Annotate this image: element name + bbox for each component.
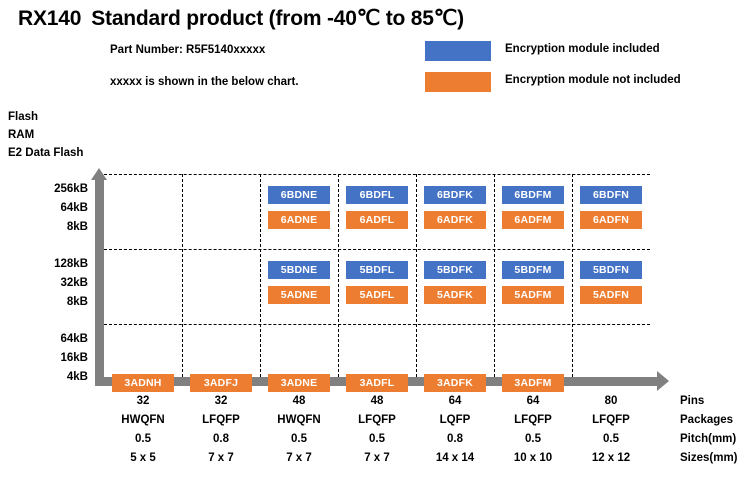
y-tick-e2-8kb-b: 8kB	[0, 296, 88, 308]
grid-vline-1	[182, 174, 183, 377]
y-axis-header-flash: Flash	[8, 111, 38, 123]
x-axis-row-legend: Pins Packages Pitch(mm) Sizes(mm)	[680, 392, 738, 468]
x-axis-col3-package: HWQFN	[260, 411, 338, 430]
y-axis-line	[95, 178, 104, 386]
part-chip-6bdfk[interactable]: 6BDFK	[424, 186, 486, 204]
grid-hline-1	[104, 249, 650, 250]
x-axis-col4-pins: 48	[338, 392, 416, 411]
x-axis-column-3: 48HWQFN0.57 x 7	[260, 392, 338, 468]
part-chip-6adfk[interactable]: 6ADFK	[424, 211, 486, 229]
part-chip-3adfk[interactable]: 3ADFK	[424, 374, 486, 392]
x-axis-col3-pins: 48	[260, 392, 338, 411]
x-axis-col2-pitch: 0.8	[182, 430, 260, 449]
x-axis-col6-pins: 64	[494, 392, 572, 411]
x-axis-col3-pitch: 0.5	[260, 430, 338, 449]
part-chip-5bdfk[interactable]: 5BDFK	[424, 261, 486, 279]
product-lineup-chart: RX140Standard product (from -40℃ to 85℃)…	[0, 0, 754, 478]
part-chip-5bdfl[interactable]: 5BDFL	[346, 261, 408, 279]
y-tick-flash-64kb: 64kB	[0, 333, 88, 345]
x-axis-col6-pitch: 0.5	[494, 430, 572, 449]
part-chip-5adfk[interactable]: 5ADFK	[424, 286, 486, 304]
chart-plot-area: 6BDNE6ADNE6BDFL6ADFL6BDFK6ADFK6BDFM6ADFM…	[104, 174, 650, 377]
part-chip-5adfm[interactable]: 5ADFM	[502, 286, 564, 304]
x-axis-col5-pitch: 0.8	[416, 430, 494, 449]
x-axis-arrow-icon	[657, 371, 669, 391]
x-row-label-packages: Packages	[680, 411, 738, 430]
x-axis-column-4: 48LFQFP0.57 x 7	[338, 392, 416, 468]
grid-vline-3	[338, 174, 339, 377]
y-tick-flash-128kb: 128kB	[0, 258, 88, 270]
part-chip-6adfl[interactable]: 6ADFL	[346, 211, 408, 229]
x-row-label-pitch: Pitch(mm)	[680, 430, 738, 449]
y-tick-ram-32kb: 32kB	[0, 277, 88, 289]
part-chip-6bdfn[interactable]: 6BDFN	[580, 186, 642, 204]
x-axis-col3-size: 7 x 7	[260, 449, 338, 468]
part-chip-5adne[interactable]: 5ADNE	[268, 286, 330, 304]
part-chip-6adfm[interactable]: 6ADFM	[502, 211, 564, 229]
part-chip-3adfj[interactable]: 3ADFJ	[190, 374, 252, 392]
part-chip-6bdfl[interactable]: 6BDFL	[346, 186, 408, 204]
x-row-label-pins: Pins	[680, 392, 738, 411]
grid-hline-2	[104, 324, 650, 325]
x-axis-column-1: 32HWQFN0.55 x 5	[104, 392, 182, 468]
x-axis-col4-pitch: 0.5	[338, 430, 416, 449]
x-axis-column-7: 80LFQFP0.512 x 12	[572, 392, 650, 468]
y-tick-ram-16kb: 16kB	[0, 352, 88, 364]
x-axis-col1-package: HWQFN	[104, 411, 182, 430]
x-axis-col4-package: LFQFP	[338, 411, 416, 430]
y-axis-header-ram: RAM	[8, 129, 34, 141]
y-tick-flash-256kb: 256kB	[0, 183, 88, 195]
x-axis-col1-size: 5 x 5	[104, 449, 182, 468]
part-chip-5adfl[interactable]: 5ADFL	[346, 286, 408, 304]
x-axis-col5-size: 14 x 14	[416, 449, 494, 468]
part-chip-5adfn[interactable]: 5ADFN	[580, 286, 642, 304]
y-tick-ram-64kb: 64kB	[0, 202, 88, 214]
x-row-label-sizes: Sizes(mm)	[680, 449, 738, 468]
part-chip-3adnh[interactable]: 3ADNH	[112, 374, 174, 392]
grid-hline-0	[104, 174, 650, 175]
x-axis-col7-size: 12 x 12	[572, 449, 650, 468]
legend-swatch-blue	[425, 41, 491, 61]
legend-label-encryption-not-included: Encryption module not included	[505, 74, 681, 86]
x-axis-column-2: 32LFQFP0.87 x 7	[182, 392, 260, 468]
x-axis-col5-package: LQFP	[416, 411, 494, 430]
part-chip-3adfl[interactable]: 3ADFL	[346, 374, 408, 392]
title-text: Standard product (from -40℃ to 85℃)	[91, 7, 464, 30]
part-number-text: Part Number: R5F5140xxxxx	[110, 44, 265, 56]
x-axis-col1-pins: 32	[104, 392, 182, 411]
x-axis-col2-size: 7 x 7	[182, 449, 260, 468]
part-chip-5bdfn[interactable]: 5BDFN	[580, 261, 642, 279]
part-chip-3adne[interactable]: 3ADNE	[268, 374, 330, 392]
y-tick-e2-8kb-a: 8kB	[0, 221, 88, 233]
x-axis-col7-pins: 80	[572, 392, 650, 411]
legend-label-encryption-included: Encryption module included	[505, 43, 660, 55]
part-chip-5bdne[interactable]: 5BDNE	[268, 261, 330, 279]
x-axis-col2-pins: 32	[182, 392, 260, 411]
x-axis-column-6: 64LFQFP0.510 x 10	[494, 392, 572, 468]
part-chip-6bdne[interactable]: 6BDNE	[268, 186, 330, 204]
x-axis-column-5: 64LQFP0.814 x 14	[416, 392, 494, 468]
grid-vline-5	[494, 174, 495, 377]
part-chip-6adne[interactable]: 6ADNE	[268, 211, 330, 229]
x-axis-col4-size: 7 x 7	[338, 449, 416, 468]
x-axis-col6-size: 10 x 10	[494, 449, 572, 468]
grid-vline-4	[416, 174, 417, 377]
part-chip-5bdfm[interactable]: 5BDFM	[502, 261, 564, 279]
x-axis-col7-pitch: 0.5	[572, 430, 650, 449]
y-tick-e2-4kb: 4kB	[0, 371, 88, 383]
page-title: RX140Standard product (from -40℃ to 85℃)	[18, 6, 464, 31]
x-axis-col6-package: LFQFP	[494, 411, 572, 430]
y-axis-header-e2-data-flash: E2 Data Flash	[8, 147, 83, 159]
x-axis-col1-pitch: 0.5	[104, 430, 182, 449]
grid-vline-6	[572, 174, 573, 377]
title-model: RX140	[18, 7, 81, 30]
part-chip-6bdfm[interactable]: 6BDFM	[502, 186, 564, 204]
grid-vline-2	[260, 174, 261, 377]
x-axis-col7-package: LFQFP	[572, 411, 650, 430]
legend-swatch-orange	[425, 72, 491, 92]
x-axis-col5-pins: 64	[416, 392, 494, 411]
part-chip-6adfn[interactable]: 6ADFN	[580, 211, 642, 229]
part-number-note: xxxxx is shown in the below chart.	[110, 76, 299, 88]
part-chip-3adfm[interactable]: 3ADFM	[502, 374, 564, 392]
x-axis-col2-package: LFQFP	[182, 411, 260, 430]
